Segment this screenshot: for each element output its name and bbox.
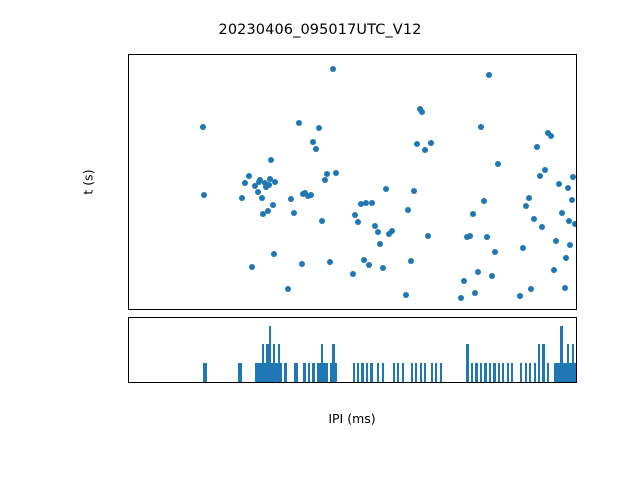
x-tick-mark bbox=[297, 382, 298, 383]
scatter-point bbox=[310, 139, 316, 145]
x-tick-mark bbox=[129, 309, 130, 310]
y-tick-mark bbox=[128, 67, 129, 68]
scatter-point bbox=[548, 133, 554, 139]
scatter-plot-axes: 0102030405060 bbox=[128, 54, 577, 310]
y-tick-mark bbox=[128, 145, 129, 146]
scatter-point bbox=[562, 285, 568, 291]
x-tick-mark bbox=[185, 382, 186, 383]
scatter-point bbox=[489, 273, 495, 279]
scatter-point bbox=[369, 200, 375, 206]
histogram-bar bbox=[502, 363, 504, 382]
scatter-point bbox=[528, 286, 534, 292]
histogram-bar bbox=[542, 344, 544, 382]
histogram-bar bbox=[511, 363, 513, 382]
histogram-bar bbox=[397, 363, 399, 382]
histogram-bar bbox=[574, 363, 576, 382]
scatter-point bbox=[428, 140, 434, 146]
scatter-point bbox=[414, 141, 420, 147]
scatter-point bbox=[200, 124, 206, 130]
histogram-bar bbox=[424, 363, 426, 382]
scatter-point bbox=[534, 144, 540, 150]
scatter-point bbox=[570, 174, 576, 180]
x-tick-mark bbox=[575, 382, 576, 383]
scatter-point bbox=[377, 241, 383, 247]
histogram-axes: 02012345678 bbox=[128, 317, 577, 383]
x-tick-mark bbox=[241, 382, 242, 383]
scatter-point bbox=[520, 245, 526, 251]
scatter-point bbox=[313, 146, 319, 152]
histogram-bar bbox=[308, 363, 310, 382]
scatter-point bbox=[380, 265, 386, 271]
scatter-point bbox=[542, 167, 548, 173]
histogram-bar bbox=[312, 363, 314, 382]
histogram-bar bbox=[284, 363, 286, 382]
scatter-point bbox=[481, 198, 487, 204]
x-tick-mark bbox=[241, 309, 242, 310]
x-tick-mark bbox=[353, 382, 354, 383]
scatter-point bbox=[389, 228, 395, 234]
scatter-point bbox=[403, 292, 409, 298]
scatter-point bbox=[242, 180, 248, 186]
scatter-point bbox=[537, 173, 543, 179]
scatter-point bbox=[270, 202, 276, 208]
scatter-point bbox=[272, 179, 278, 185]
x-axis-label: IPI (ms) bbox=[328, 411, 375, 426]
histogram-bar bbox=[335, 363, 337, 382]
scatter-point bbox=[259, 195, 265, 201]
scatter-point bbox=[308, 192, 314, 198]
histogram-bar bbox=[493, 363, 495, 382]
scatter-point bbox=[478, 124, 484, 130]
scatter-point bbox=[523, 203, 529, 209]
histogram-bar bbox=[303, 363, 305, 382]
scatter-point bbox=[526, 195, 532, 201]
scatter-point bbox=[563, 255, 569, 261]
y-tick-mark bbox=[128, 223, 129, 224]
histogram-bar bbox=[435, 363, 437, 382]
scatter-point bbox=[556, 181, 562, 187]
y-tick-mark bbox=[128, 184, 129, 185]
scatter-point bbox=[299, 261, 305, 267]
histogram-bar bbox=[498, 363, 500, 382]
scatter-point bbox=[461, 278, 467, 284]
histogram-bar bbox=[538, 344, 540, 382]
x-tick-mark bbox=[464, 382, 465, 383]
histogram-bar bbox=[393, 363, 395, 382]
x-tick-mark bbox=[520, 309, 521, 310]
scatter-point bbox=[255, 189, 261, 195]
histogram-bar bbox=[466, 344, 468, 382]
histogram-bar bbox=[326, 363, 328, 382]
matplotlib-figure: 20230406_095017UTC_V12 0102030405060 t (… bbox=[0, 0, 640, 480]
histogram-bar bbox=[357, 363, 359, 382]
histogram-bar bbox=[440, 363, 442, 382]
scatter-point bbox=[322, 177, 328, 183]
scatter-point bbox=[291, 210, 297, 216]
scatter-point bbox=[553, 238, 559, 244]
scatter-point bbox=[517, 293, 523, 299]
histogram-bar bbox=[507, 363, 509, 382]
scatter-point bbox=[296, 120, 302, 126]
histogram-bar bbox=[296, 363, 298, 382]
histogram-bar bbox=[431, 363, 433, 382]
scatter-point bbox=[475, 269, 481, 275]
scatter-point bbox=[266, 182, 272, 188]
histogram-bar bbox=[475, 363, 477, 382]
x-tick-mark bbox=[520, 382, 521, 383]
scatter-point bbox=[239, 195, 245, 201]
x-tick-mark bbox=[129, 382, 130, 383]
scatter-point bbox=[470, 211, 476, 217]
histogram-bar bbox=[489, 363, 491, 382]
scatter-point bbox=[201, 192, 207, 198]
y-axis-label: t (s) bbox=[81, 169, 96, 194]
histogram-bar bbox=[366, 363, 368, 382]
scatter-point bbox=[319, 218, 325, 224]
scatter-point bbox=[333, 170, 339, 176]
histogram-bar bbox=[402, 363, 404, 382]
scatter-point bbox=[419, 109, 425, 115]
scatter-point bbox=[472, 290, 478, 296]
scatter-point bbox=[422, 147, 428, 153]
histogram-bar bbox=[411, 363, 413, 382]
scatter-point bbox=[408, 258, 414, 264]
page-title: 20230406_095017UTC_V12 bbox=[0, 22, 640, 38]
y-tick-mark bbox=[128, 106, 129, 107]
histogram-bar bbox=[240, 363, 242, 382]
scatter-point bbox=[288, 196, 294, 202]
scatter-point bbox=[375, 229, 381, 235]
scatter-point bbox=[246, 173, 252, 179]
histogram-bar bbox=[480, 363, 482, 382]
histogram-bar bbox=[534, 363, 536, 382]
scatter-point bbox=[405, 207, 411, 213]
scatter-point bbox=[271, 251, 277, 257]
scatter-point bbox=[352, 212, 358, 218]
scatter-point bbox=[285, 286, 291, 292]
x-tick-mark bbox=[297, 309, 298, 310]
scatter-point bbox=[383, 186, 389, 192]
scatter-point bbox=[486, 72, 492, 78]
scatter-point bbox=[324, 171, 330, 177]
histogram-bar bbox=[382, 363, 384, 382]
scatter-point bbox=[484, 234, 490, 240]
scatter-point bbox=[569, 197, 575, 203]
scatter-point bbox=[495, 161, 501, 167]
scatter-point bbox=[366, 262, 372, 268]
scatter-point bbox=[372, 223, 378, 229]
scatter-point bbox=[411, 188, 417, 194]
histogram-bar bbox=[205, 363, 207, 382]
y-tick-mark bbox=[128, 262, 129, 263]
scatter-point bbox=[265, 208, 271, 214]
scatter-point bbox=[268, 157, 274, 163]
x-tick-mark bbox=[575, 309, 576, 310]
histogram-bar bbox=[415, 363, 417, 382]
scatter-point bbox=[316, 125, 322, 131]
histogram-bar bbox=[471, 363, 473, 382]
scatter-point bbox=[350, 271, 356, 277]
scatter-point bbox=[330, 66, 336, 72]
scatter-point bbox=[467, 233, 473, 239]
scatter-point bbox=[565, 185, 571, 191]
histogram-bar bbox=[280, 363, 282, 382]
histogram-bar bbox=[547, 363, 549, 382]
histogram-bar bbox=[370, 363, 372, 382]
histogram-bar bbox=[520, 363, 522, 382]
x-tick-mark bbox=[408, 309, 409, 310]
x-tick-mark bbox=[185, 309, 186, 310]
x-tick-mark bbox=[353, 309, 354, 310]
histogram-bar bbox=[484, 363, 486, 382]
histogram-bar bbox=[525, 363, 527, 382]
scatter-point bbox=[355, 219, 361, 225]
scatter-point bbox=[425, 233, 431, 239]
x-tick-mark bbox=[408, 382, 409, 383]
histogram-bar bbox=[377, 363, 379, 382]
scatter-point bbox=[492, 249, 498, 255]
scatter-point bbox=[249, 264, 255, 270]
histogram-bar bbox=[529, 363, 531, 382]
scatter-point bbox=[458, 295, 464, 301]
x-tick-mark bbox=[464, 309, 465, 310]
histogram-bar bbox=[353, 363, 355, 382]
scatter-point bbox=[551, 267, 557, 273]
y-tick-mark bbox=[128, 344, 129, 345]
scatter-point bbox=[572, 221, 577, 227]
histogram-bar bbox=[361, 363, 363, 382]
scatter-point bbox=[559, 210, 565, 216]
scatter-point bbox=[531, 216, 537, 222]
scatter-point bbox=[539, 224, 545, 230]
histogram-bar bbox=[420, 363, 422, 382]
scatter-point bbox=[567, 242, 573, 248]
y-tick-mark bbox=[128, 301, 129, 302]
scatter-point bbox=[327, 259, 333, 265]
